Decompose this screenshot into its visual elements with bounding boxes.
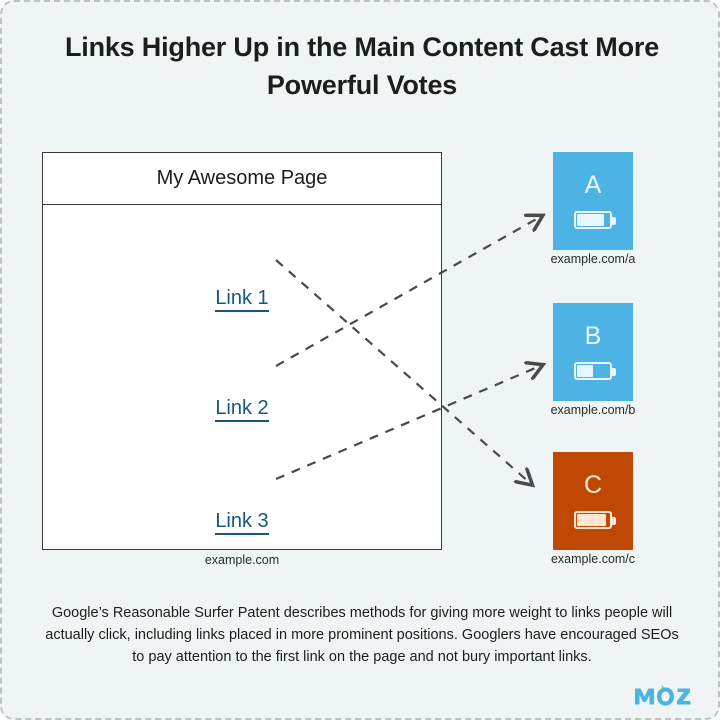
infographic-canvas: Links Higher Up in the Main Content Cast… (0, 0, 720, 720)
target-card-b-letter: B (585, 324, 602, 349)
target-card-b[interactable]: B (553, 303, 633, 401)
page-link-1[interactable]: Link 1 (43, 287, 441, 310)
page-mockup: My Awesome Page Link 1 Link 2 Link 3 (42, 152, 442, 550)
page-link-2[interactable]: Link 2 (43, 397, 441, 420)
target-card-c-caption: example.com/c (513, 552, 673, 566)
moz-logo (634, 684, 696, 708)
page-link-1-label: Link 1 (215, 287, 268, 312)
target-card-a-caption: example.com/a (513, 252, 673, 266)
target-card-b-caption: example.com/b (513, 403, 673, 417)
page-mockup-body: Link 1 Link 2 Link 3 (43, 205, 441, 550)
page-mockup-title: My Awesome Page (157, 167, 328, 190)
target-card-a-letter: A (585, 173, 602, 198)
target-card-a[interactable]: A (553, 152, 633, 250)
battery-icon (574, 362, 612, 380)
page-mockup-caption: example.com (42, 553, 442, 567)
page-title: Links Higher Up in the Main Content Cast… (36, 28, 688, 104)
page-link-2-label: Link 2 (215, 397, 268, 422)
target-card-c-letter: C (584, 473, 602, 498)
battery-icon (574, 511, 612, 529)
page-mockup-header: My Awesome Page (43, 153, 441, 205)
target-card-c[interactable]: C (553, 452, 633, 550)
battery-icon (574, 211, 612, 229)
footer-caption: Google’s Reasonable Surfer Patent descri… (42, 602, 682, 668)
page-link-3-label: Link 3 (215, 510, 268, 535)
page-link-3[interactable]: Link 3 (43, 510, 441, 533)
